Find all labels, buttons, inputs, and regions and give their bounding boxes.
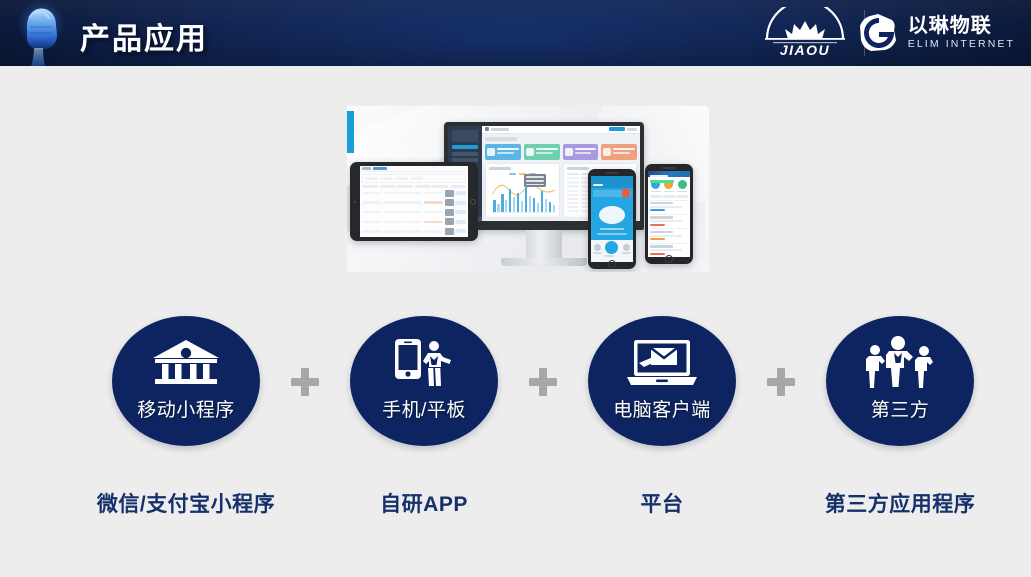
caption-mini-program: 微信/支付宝小程序 xyxy=(71,488,301,518)
dashboard-nav-item xyxy=(452,145,478,149)
plus-connector-1 xyxy=(291,368,319,396)
app-caption xyxy=(597,233,627,235)
elim-name-en: ELIM INTERNET xyxy=(908,38,1015,51)
dashboard-nav-item xyxy=(452,152,478,156)
list-item xyxy=(650,200,688,212)
avatar xyxy=(622,189,630,197)
chart-title xyxy=(489,167,511,170)
caption-desktop-client: 平台 xyxy=(547,488,777,518)
dashboard-logo xyxy=(452,130,478,142)
table-row xyxy=(362,218,466,225)
chart-legend xyxy=(489,173,556,175)
topbar-right xyxy=(609,127,637,131)
app-user-row xyxy=(593,190,631,197)
app-caption xyxy=(600,228,624,230)
device-phone-left xyxy=(588,169,636,269)
phone-speaker xyxy=(662,167,676,169)
bank-building-icon xyxy=(112,334,260,392)
phone-home-button xyxy=(665,255,673,263)
blue-app-preview xyxy=(591,176,633,262)
ipad-table xyxy=(360,185,468,235)
jiaou-logo-text: JIAOU xyxy=(757,42,853,58)
ipad-home-button xyxy=(470,199,476,205)
plus-connector-2 xyxy=(529,368,557,396)
ipad-filter-bar xyxy=(362,174,466,183)
caption-third-party: 第三方应用程序 xyxy=(785,488,1015,518)
list-item xyxy=(650,243,688,255)
table-row xyxy=(362,209,466,216)
device-ipad xyxy=(350,162,478,241)
device-phone-right xyxy=(645,164,693,264)
list-item xyxy=(650,214,688,226)
table-row xyxy=(362,228,466,235)
slide-header: 产品应用 JIAOU 以琳物联 ELIM INTERNET xyxy=(0,0,1031,66)
phone-right-screen xyxy=(648,171,690,257)
raised-fist-icon xyxy=(8,0,74,66)
node-desktop-client[interactable]: 电脑客户端 xyxy=(588,316,736,446)
app-navbar xyxy=(591,181,633,188)
device-mockup-image xyxy=(347,106,709,272)
app-hero-banner xyxy=(648,171,690,177)
node-third-party[interactable]: 第三方 xyxy=(826,316,974,446)
stat-card xyxy=(524,144,560,160)
ipad-screen xyxy=(360,166,468,237)
laptop-mail-icon xyxy=(588,334,736,392)
phone-left-screen xyxy=(591,176,633,262)
stat-card xyxy=(485,144,521,160)
dashboard-chart-panel xyxy=(485,163,560,218)
node-label: 手机/平板 xyxy=(350,395,498,422)
table-row xyxy=(362,190,466,197)
table-title xyxy=(567,167,589,170)
menu-icon xyxy=(485,127,489,131)
imac-stand-foot xyxy=(501,258,587,266)
dashboard-topbar xyxy=(482,126,640,134)
chart-axis xyxy=(492,212,555,213)
breadcrumb xyxy=(491,128,509,131)
plus-connector-3 xyxy=(767,368,795,396)
tabbar-item-primary xyxy=(605,241,618,257)
mockup-accent-bar xyxy=(347,111,354,153)
tabbar-item xyxy=(593,244,602,254)
elim-logo-text: 以琳物联 ELIM INTERNET xyxy=(908,15,1015,51)
user-chip xyxy=(609,127,625,131)
node-label: 电脑客户端 xyxy=(588,395,736,422)
ipad-topbar xyxy=(360,166,468,172)
sunrise-arch-icon xyxy=(757,7,853,45)
caption-phone-tablet: 自研APP xyxy=(309,488,539,518)
stat-card xyxy=(601,144,637,160)
imac-stand-neck xyxy=(526,230,562,260)
table-row xyxy=(362,199,466,206)
g-hexagon-icon xyxy=(857,12,899,54)
phone-home-button xyxy=(608,260,616,268)
node-label: 移动小程序 xyxy=(112,395,260,422)
chart-bars xyxy=(493,183,555,213)
app-hero-circle xyxy=(599,206,625,224)
phone-speaker xyxy=(605,172,619,174)
page-title: 产品应用 xyxy=(80,14,208,58)
stat-card xyxy=(563,144,599,160)
caption-row: 微信/支付宝小程序 自研APP 平台 第三方应用程序 xyxy=(0,488,1031,524)
node-label: 第三方 xyxy=(826,395,974,422)
elim-name-cn: 以琳物联 xyxy=(908,15,1015,37)
jiaou-logo: JIAOU xyxy=(757,7,853,59)
node-mini-program[interactable]: 移动小程序 xyxy=(112,316,260,446)
list-item xyxy=(650,228,688,240)
dashboard-breadcrumb xyxy=(485,137,517,141)
table-header-row xyxy=(362,185,466,188)
logout-chip xyxy=(627,128,637,131)
elim-logo: 以琳物联 ELIM INTERNET xyxy=(857,9,1015,57)
list-app-preview xyxy=(648,171,690,257)
quick-action xyxy=(677,180,687,192)
dashboard-stat-cards xyxy=(485,144,637,160)
tabbar-item xyxy=(622,244,631,254)
ipad-camera xyxy=(354,201,356,203)
people-group-icon xyxy=(826,334,974,392)
phone-person-icon xyxy=(350,334,498,392)
channel-node-row: 移动小程序 手机/平板 xyxy=(0,316,1031,446)
node-phone-tablet[interactable]: 手机/平板 xyxy=(350,316,498,446)
slide-root: 产品应用 JIAOU 以琳物联 ELIM INTERNET xyxy=(0,0,1031,577)
app-tabbar xyxy=(591,240,633,262)
